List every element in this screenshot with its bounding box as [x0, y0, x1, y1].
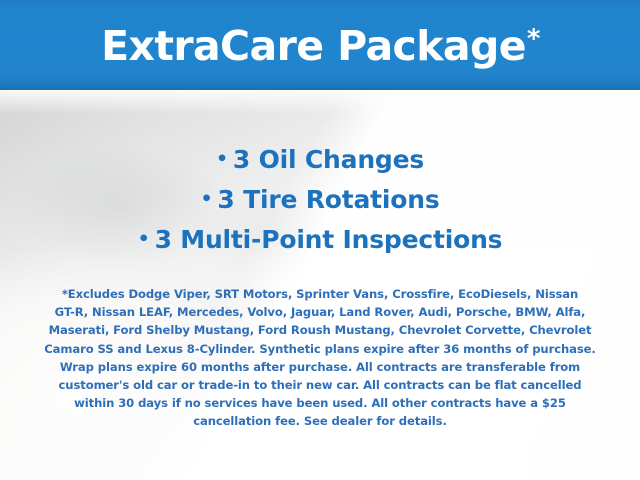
header-banner: ExtraCare Package* [0, 0, 640, 90]
disclaimer-line: customer's old car or trade-in to their … [28, 376, 612, 394]
disclaimer-line: *Excludes Dodge Viper, SRT Motors, Sprin… [28, 285, 612, 303]
list-item-label: 3 Oil Changes [233, 145, 424, 174]
extracare-package-ad: ExtraCare Package* •3 Oil Changes •3 Tir… [0, 0, 640, 480]
disclaimer-text: *Excludes Dodge Viper, SRT Motors, Sprin… [28, 285, 612, 431]
title-asterisk: * [527, 24, 540, 54]
page-title: ExtraCare Package* [101, 26, 539, 67]
disclaimer-line: Camaro SS and Lexus 8-Cylinder. Syntheti… [28, 340, 612, 358]
list-item: •3 Multi-Point Inspections [0, 221, 640, 261]
bullet-icon: • [200, 188, 212, 210]
disclaimer-line: cancellation fee. See dealer for details… [28, 412, 612, 430]
disclaimer-line: Wrap plans expire 60 months after purcha… [28, 358, 612, 376]
background-top-glow [0, 88, 640, 114]
list-item-label: 3 Tire Rotations [217, 185, 439, 214]
disclaimer-line: Maserati, Ford Shelby Mustang, Ford Rous… [28, 321, 612, 339]
benefits-list: •3 Oil Changes •3 Tire Rotations •3 Mult… [0, 141, 640, 261]
disclaimer-line: within 30 days if no services have been … [28, 394, 612, 412]
bullet-icon: • [138, 228, 150, 250]
list-item: •3 Oil Changes [0, 141, 640, 181]
list-item-label: 3 Multi-Point Inspections [155, 225, 503, 254]
list-item: •3 Tire Rotations [0, 181, 640, 221]
bullet-icon: • [216, 148, 228, 170]
disclaimer-line: GT-R, Nissan LEAF, Mercedes, Volvo, Jagu… [28, 303, 612, 321]
page-title-text: ExtraCare Package [101, 22, 526, 70]
